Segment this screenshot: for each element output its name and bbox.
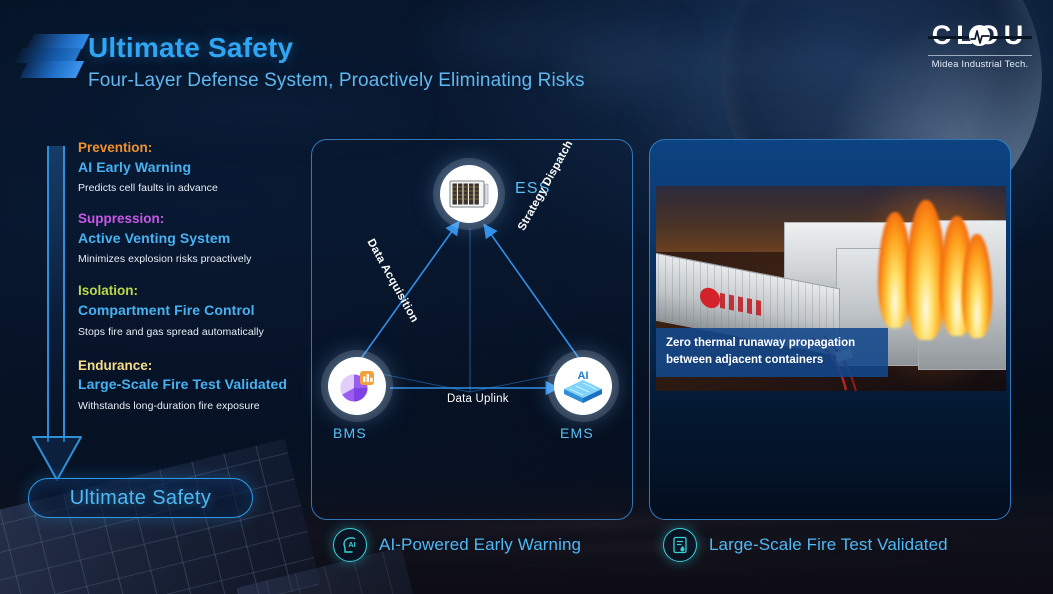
- ai-cube-icon: AI: [562, 367, 604, 405]
- slide-stage: Ultimate Safety Four-Layer Defense Syste…: [0, 0, 1053, 594]
- middle-panel-footer: AI AI-Powered Early Warning: [333, 528, 581, 562]
- fire-test-photo: Zero thermal runaway propagation between…: [656, 186, 1006, 391]
- node-bms-label: BMS: [333, 425, 367, 441]
- photo-caption: Zero thermal runaway propagation between…: [656, 328, 888, 378]
- node-bms[interactable]: [328, 357, 386, 415]
- fire-test-panel: Zero thermal runaway propagation between…: [649, 139, 1011, 520]
- node-ems-label: EMS: [560, 425, 594, 441]
- node-ems[interactable]: AI: [554, 357, 612, 415]
- right-panel-footer: Large-Scale Fire Test Validated: [663, 528, 948, 562]
- svg-text:AI: AI: [348, 540, 356, 549]
- edge-label-data-uplink: Data Uplink: [447, 393, 509, 405]
- middle-panel-footer-label: AI-Powered Early Warning: [379, 535, 581, 555]
- pie-chart-icon: [337, 368, 377, 404]
- right-panel-footer-label: Large-Scale Fire Test Validated: [709, 535, 948, 555]
- node-ess[interactable]: [440, 165, 498, 223]
- fire-report-icon: [663, 528, 697, 562]
- edge-label-data-acquisition: Data Acquisition: [365, 237, 421, 325]
- battery-rack-icon: [449, 180, 489, 208]
- ai-head-icon: AI: [333, 528, 367, 562]
